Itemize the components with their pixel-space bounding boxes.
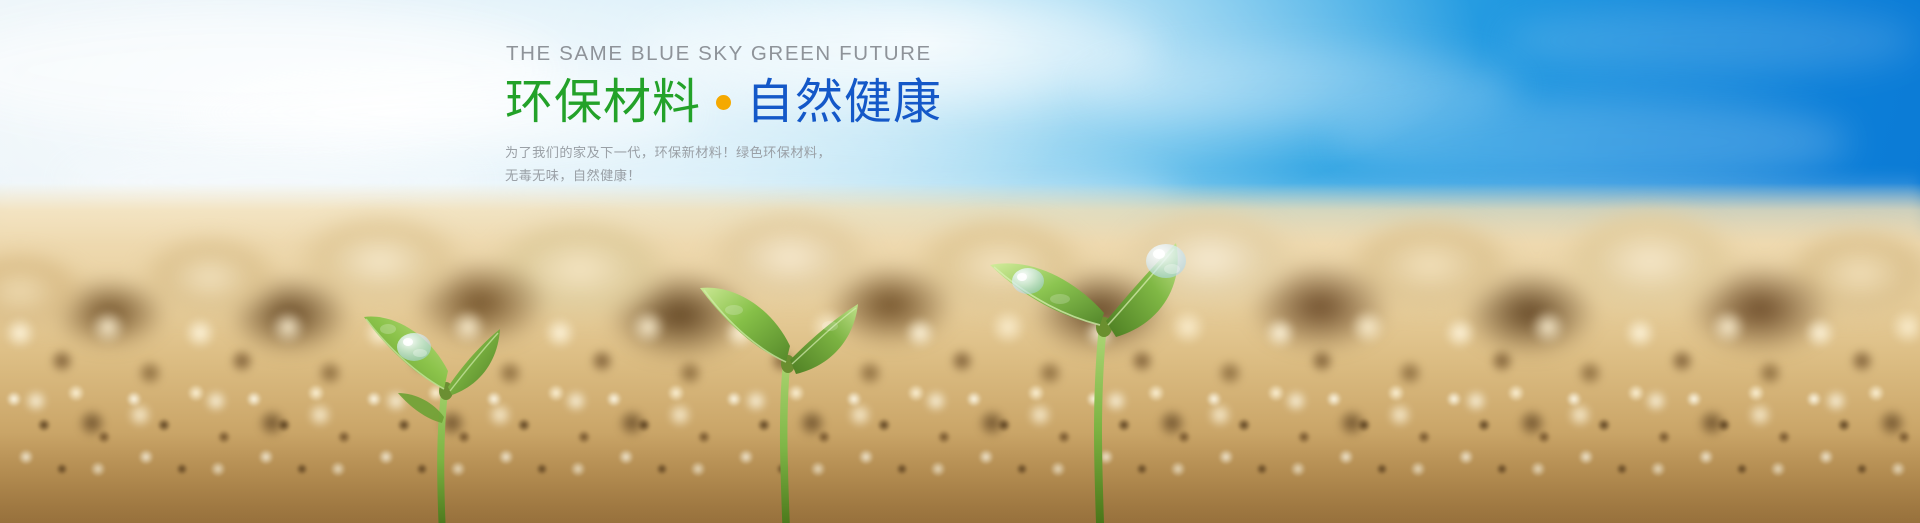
sprout-left [330, 273, 590, 523]
banner-subcopy: 为了我们的家及下一代，环保新材料！绿色环保材料， 无毒无味，自然健康！ [505, 142, 925, 186]
cloud-wisp [1080, 48, 1520, 126]
hero-banner: THE SAME BLUE SKY GREEN FUTURE 环保材料 自然健康… [0, 0, 1920, 523]
sprout-middle [690, 258, 920, 523]
sprout-right [950, 223, 1250, 523]
cloud-wisp [1500, 6, 1920, 76]
headline-separator-dot [716, 95, 731, 110]
subcopy-line-1: 为了我们的家及下一代，环保新材料！绿色环保材料， [505, 142, 925, 164]
subcopy-line-2: 无毒无味，自然健康！ [505, 165, 925, 187]
headline-part-green: 环保材料 [505, 76, 701, 130]
cloud-wisp [0, 10, 560, 130]
banner-headline: 环保材料 自然健康 [505, 76, 925, 130]
banner-copy: THE SAME BLUE SKY GREEN FUTURE 环保材料 自然健康… [505, 42, 925, 187]
banner-eyebrow: THE SAME BLUE SKY GREEN FUTURE [506, 42, 925, 67]
headline-part-blue: 自然健康 [746, 76, 942, 130]
